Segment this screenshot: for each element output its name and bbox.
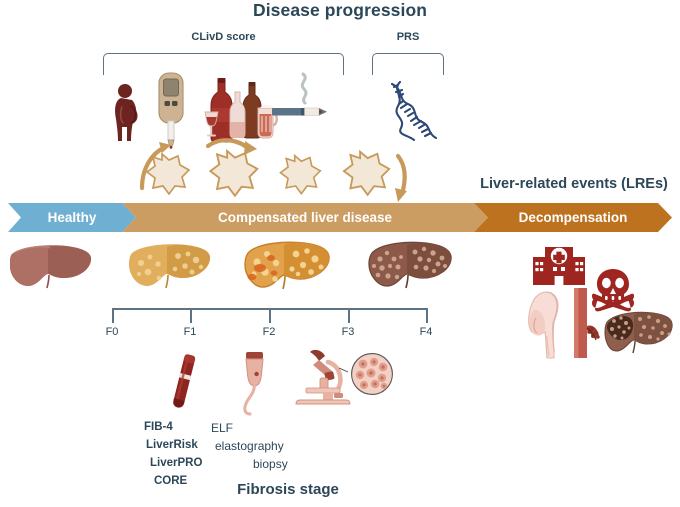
lre-title: Liver-related events (LREs) [468, 176, 680, 192]
fibrosis-label-f4: F4 [411, 326, 441, 338]
glucometer-icon [155, 73, 187, 149]
cirrhotic-liver-icon [368, 240, 454, 292]
steatohepatitis-liver-icon [244, 240, 332, 294]
fibrosis-tick-f1 [190, 308, 192, 323]
stage-label-healthy: Healthy [48, 210, 97, 225]
microscope-icon [292, 348, 356, 406]
prs-bracket [372, 53, 444, 75]
alcohol-bottles-icon [204, 78, 276, 142]
clivd-score-label: CLivD score [103, 31, 344, 43]
marker-elf: ELF [211, 421, 233, 435]
hospital-icon [532, 243, 586, 285]
fibrosis-tick-f2 [269, 308, 271, 323]
fibrosis-tick-f0 [112, 308, 114, 323]
stage-segment-healthy[interactable]: Healthy [8, 203, 136, 232]
prs-label: PRS [372, 31, 444, 43]
fibrosis-tick-f4 [426, 308, 428, 323]
marker-fib4: FIB-4 [144, 421, 173, 433]
obesity-figure-icon [110, 83, 144, 145]
dna-helix-icon [384, 80, 446, 142]
marker-biopsy: biopsy [253, 457, 288, 471]
healthy-liver-icon [8, 244, 94, 292]
blood-tube-icon [166, 352, 200, 414]
stage-segment-decompensated[interactable]: Decompensation [474, 203, 672, 232]
page-title: Disease progression [0, 0, 680, 21]
varices-vessel-icon [568, 288, 602, 358]
ascites-abdomen-icon [520, 290, 568, 358]
fibrosis-stage-title: Fibrosis stage [188, 481, 388, 498]
fibrosis-label-f0: F0 [97, 326, 127, 338]
fibrosis-tick-f3 [348, 308, 350, 323]
stage-label-decompensated: Decompensation [519, 210, 628, 225]
diagram-canvas: Disease progression CLivD score [0, 0, 680, 507]
tissue-histology-inset [350, 352, 394, 396]
fibrosis-label-f1: F1 [175, 326, 205, 338]
cigarette-icon [270, 72, 330, 134]
stellate-cell-row [140, 140, 430, 206]
stage-label-compensated: Compensated liver disease [218, 210, 392, 225]
marker-elastography: elastography [215, 439, 284, 453]
fibrosis-axis [112, 308, 428, 324]
stage-segment-compensated[interactable]: Compensated liver disease [122, 203, 488, 232]
tumour-liver-icon [604, 310, 674, 356]
steatotic-liver-icon [128, 242, 212, 292]
marker-liverpro: LiverPRO [150, 457, 202, 469]
ultrasound-probe-icon [238, 351, 272, 415]
marker-core: CORE [154, 475, 187, 487]
fibrosis-label-f3: F3 [333, 326, 363, 338]
marker-liverrisk: LiverRisk [146, 439, 198, 451]
fibrosis-label-f2: F2 [254, 326, 284, 338]
